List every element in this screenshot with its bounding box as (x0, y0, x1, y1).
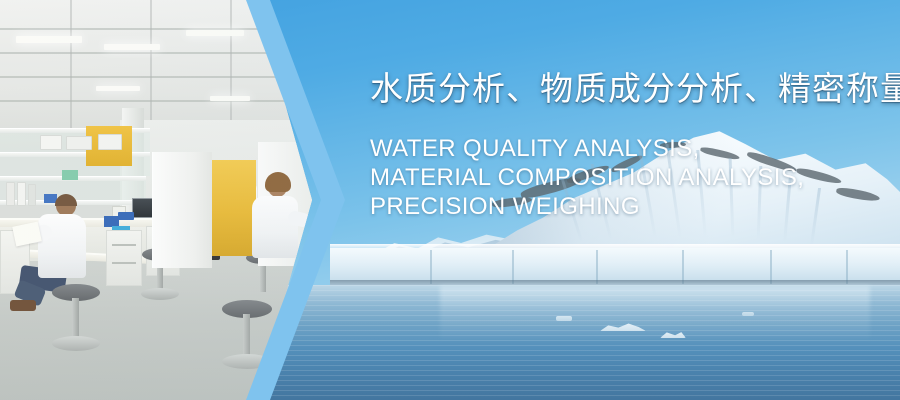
lab-supply-box (62, 170, 78, 180)
ice-crevasse (682, 250, 684, 284)
shelf-box (66, 136, 92, 150)
banner-copy: 水质分析、物质成分分析、精密称量 WATER QUALITY ANALYSIS,… (370, 62, 890, 221)
promo-banner: 水质分析、物质成分分析、精密称量 WATER QUALITY ANALYSIS,… (0, 0, 900, 400)
lab-binder (17, 182, 26, 206)
ice-crevasse (430, 250, 432, 284)
lab-binder (6, 182, 15, 206)
floating-ice (556, 316, 572, 321)
ice-crevasse (512, 250, 514, 284)
ice-crevasse (846, 250, 848, 284)
lab-supply-box (118, 212, 134, 220)
stool-base (141, 288, 179, 300)
ice-crevasse (770, 250, 772, 284)
ceiling-grid-line (150, 0, 152, 130)
floating-ice (742, 312, 754, 316)
person-hair (265, 172, 291, 192)
shelf-box (40, 135, 62, 150)
bench-drawer-unit (106, 230, 142, 286)
ceiling-grid-line (0, 76, 312, 78)
subtitle-line-2: MATERIAL COMPOSITION ANALYSIS, (370, 163, 890, 192)
ceiling-light (210, 96, 250, 101)
ceiling-grid-line (230, 0, 232, 130)
lab-partition-panel (152, 152, 212, 268)
subtitle-english: WATER QUALITY ANALYSIS, MATERIAL COMPOSI… (370, 110, 890, 221)
headline-chinese: 水质分析、物质成分分析、精密称量 (370, 62, 890, 110)
ceiling-grid-line (0, 52, 312, 54)
laboratory-interior-photo (0, 0, 312, 400)
ceiling-light (186, 30, 244, 36)
subtitle-line-3: PRECISION WEIGHING (370, 192, 890, 221)
ceiling-grid-line (0, 100, 312, 102)
ceiling-light (96, 86, 140, 91)
ceiling-light (16, 36, 82, 43)
ceiling-light (104, 44, 160, 50)
ceiling-grid-line (70, 0, 72, 130)
drawer-handle (112, 244, 136, 246)
drawer-handle (112, 262, 136, 264)
yellow-storage-unit (212, 160, 256, 256)
subtitle-line-1: WATER QUALITY ANALYSIS, (370, 134, 890, 163)
stool-post (260, 262, 266, 292)
shelf-box (98, 134, 122, 150)
lab-coat (252, 196, 298, 258)
lab-coat (38, 214, 86, 278)
stool-base (52, 336, 100, 351)
lab-binder (28, 184, 36, 206)
ice-crevasse (596, 250, 598, 284)
person-shoes (10, 300, 36, 311)
